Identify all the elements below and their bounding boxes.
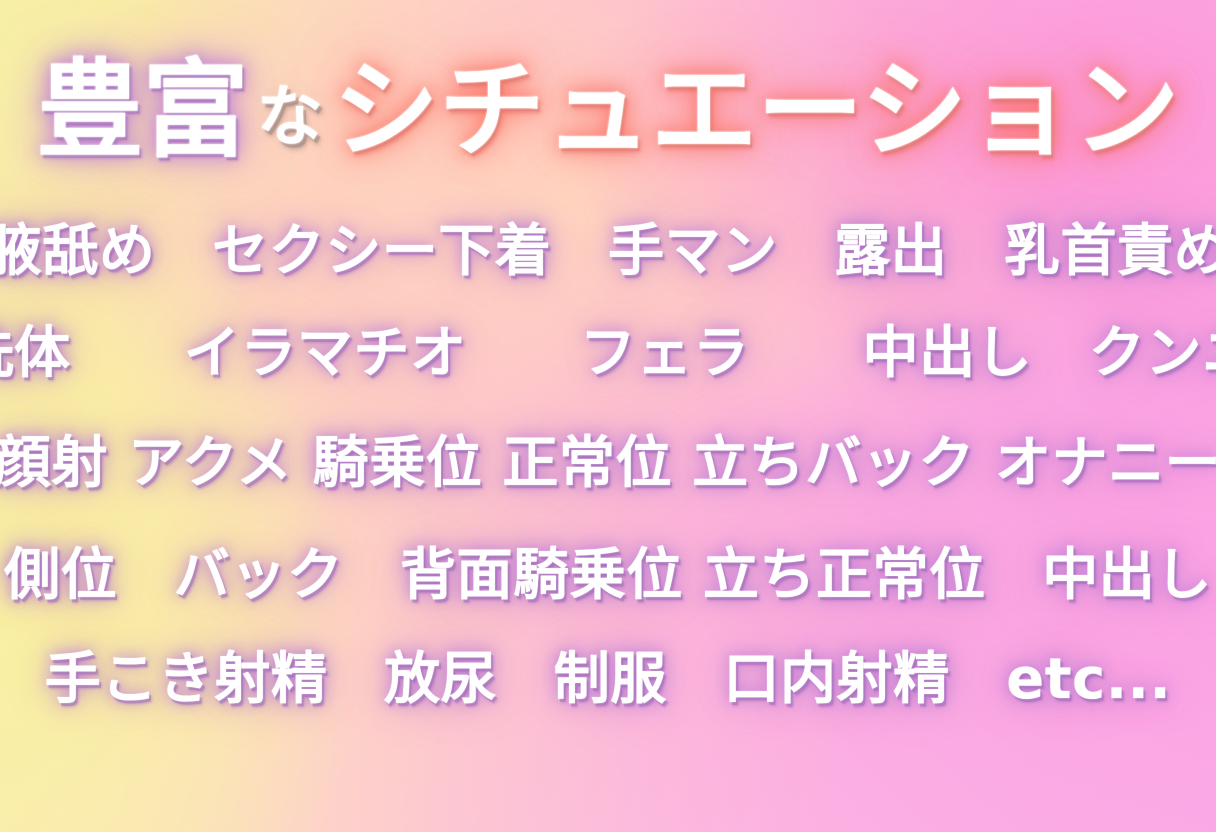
promo-banner: 豊富なシチュエーション 腋舐め セクシー下着 手マン 露出 乳首責め 洗体 イラ… [0,0,1216,832]
keyword-row: 手こき射精 放尿 制服 口内射精 etc... [45,644,1172,716]
banner-content: 豊富なシチュエーション 腋舐め セクシー下着 手マン 露出 乳首責め 洗体 イラ… [0,0,1216,832]
keyword-row: 洗体 イラマチオ フェラ 中出し クンニ [0,318,1216,390]
keyword-row: 側位 バック 背面騎乗位 立ち正常位 中出し [4,540,1212,612]
keyword-row: 顔射 アクメ 騎乗位 正常位 立ちバック オナニー [0,428,1216,500]
headline-part-accent: シチュエーション [333,58,1180,164]
keyword-row: 腋舐め セクシー下着 手マン 露出 乳首責め [0,216,1216,288]
keyword-list: 腋舐め セクシー下着 手マン 露出 乳首責め 洗体 イラマチオ フェラ 中出し … [0,216,1216,716]
headline-part-primary: 豊富 [37,58,249,164]
headline: 豊富なシチュエーション [37,58,1180,164]
headline-part-particle: な [257,84,323,150]
